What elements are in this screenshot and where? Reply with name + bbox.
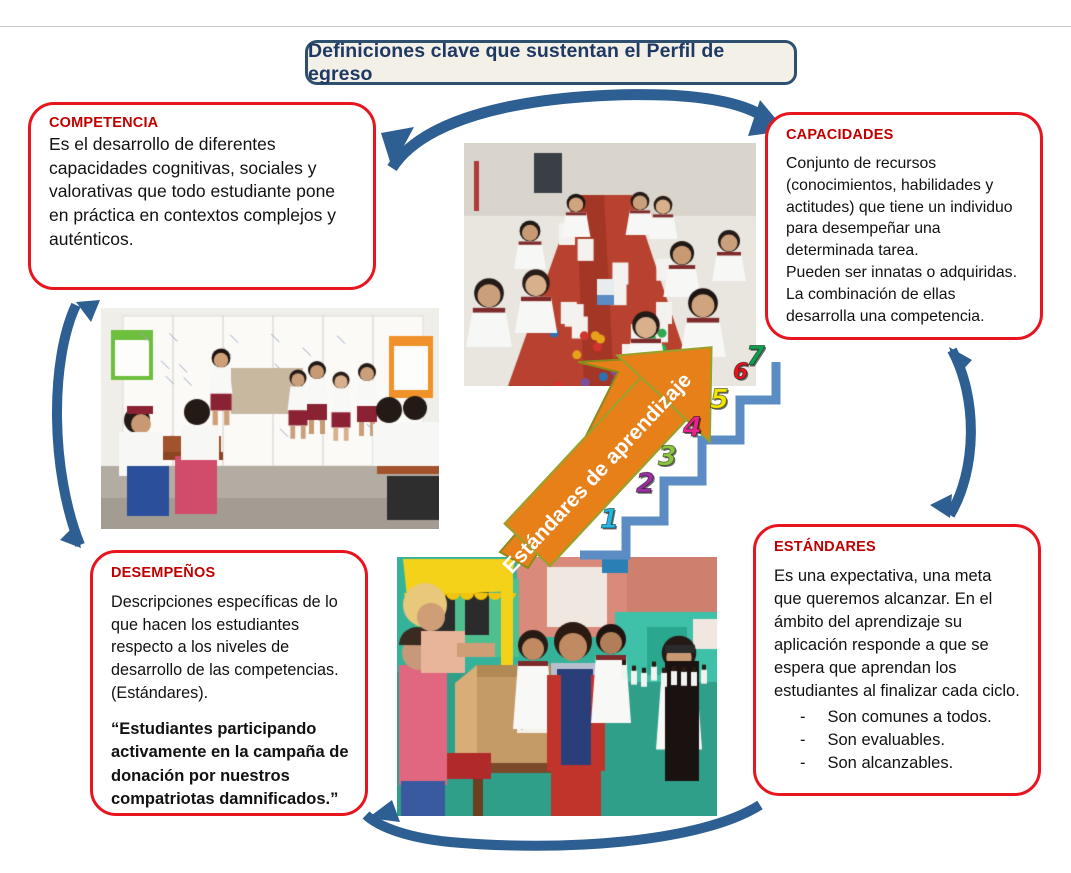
photo-classroom-materials <box>464 143 756 386</box>
bullet-dash: - <box>800 752 806 775</box>
capacidades-heading: CAPACIDADES <box>786 127 1024 143</box>
step-number-1: 1 <box>600 506 619 533</box>
diagram-canvas: Estándares de aprendizaje 1 2 3 4 5 6 7 … <box>0 0 1071 873</box>
step-number-4: 4 <box>683 414 702 441</box>
step-number-7: 7 <box>746 343 765 370</box>
concept-box-estandares[interactable]: ESTÁNDARES Es una expectativa, una meta … <box>753 524 1041 796</box>
title-banner: Definiciones clave que sustentan el Perf… <box>305 40 797 85</box>
concept-box-desempenos[interactable]: DESEMPEÑOS Descripciones específicas de … <box>90 550 368 816</box>
estandares-bullet-item: -Son comunes a todos. <box>774 706 1022 729</box>
competencia-heading: COMPETENCIA <box>49 115 357 131</box>
bullet-text: Son evaluables. <box>828 729 945 752</box>
orange-arrow-label: Estándares de aprendizaje <box>499 369 697 578</box>
concept-box-capacidades[interactable]: CAPACIDADES Conjunto de recursos (conoci… <box>765 112 1043 340</box>
bullet-text: Son alcanzables. <box>828 752 954 775</box>
concept-box-competencia[interactable]: COMPETENCIA Es el desarrollo de diferent… <box>28 102 376 290</box>
competencia-body: Es el desarrollo de diferentes capacidad… <box>49 133 357 251</box>
photo-classroom-presentation <box>101 308 439 529</box>
estandares-bullet-item: -Son evaluables. <box>774 729 1022 752</box>
step-number-2: 2 <box>636 470 655 497</box>
desempenos-body: Descripciones específicas de lo que hace… <box>111 591 349 704</box>
bullet-dash: - <box>800 729 806 752</box>
capacidades-body: Conjunto de recursos (conocimientos, hab… <box>786 153 1024 327</box>
title-banner-text: Definiciones clave que sustentan el Perf… <box>308 40 794 86</box>
bullet-dash: - <box>800 706 806 729</box>
photo-donation-campaign <box>397 557 717 816</box>
estandares-body: Es una expectativa, una meta que queremo… <box>774 565 1022 704</box>
top-divider-rule <box>0 26 1071 27</box>
desempenos-heading: DESEMPEÑOS <box>111 565 349 581</box>
estandares-heading: ESTÁNDARES <box>774 539 1022 555</box>
arrow-right-capacidades-to-estandares <box>930 347 972 518</box>
bullet-text: Son comunes a todos. <box>828 706 992 729</box>
desempenos-quote: “Estudiantes participando activamente en… <box>111 718 349 810</box>
step-number-3: 3 <box>658 443 677 470</box>
arrow-left-competencia-to-desempenos <box>57 300 100 548</box>
estandares-bullet-item: -Son alcanzables. <box>774 752 1022 775</box>
estandares-bullet-list: -Son comunes a todos.-Son evaluables.-So… <box>774 706 1022 776</box>
step-number-5: 5 <box>710 386 729 413</box>
